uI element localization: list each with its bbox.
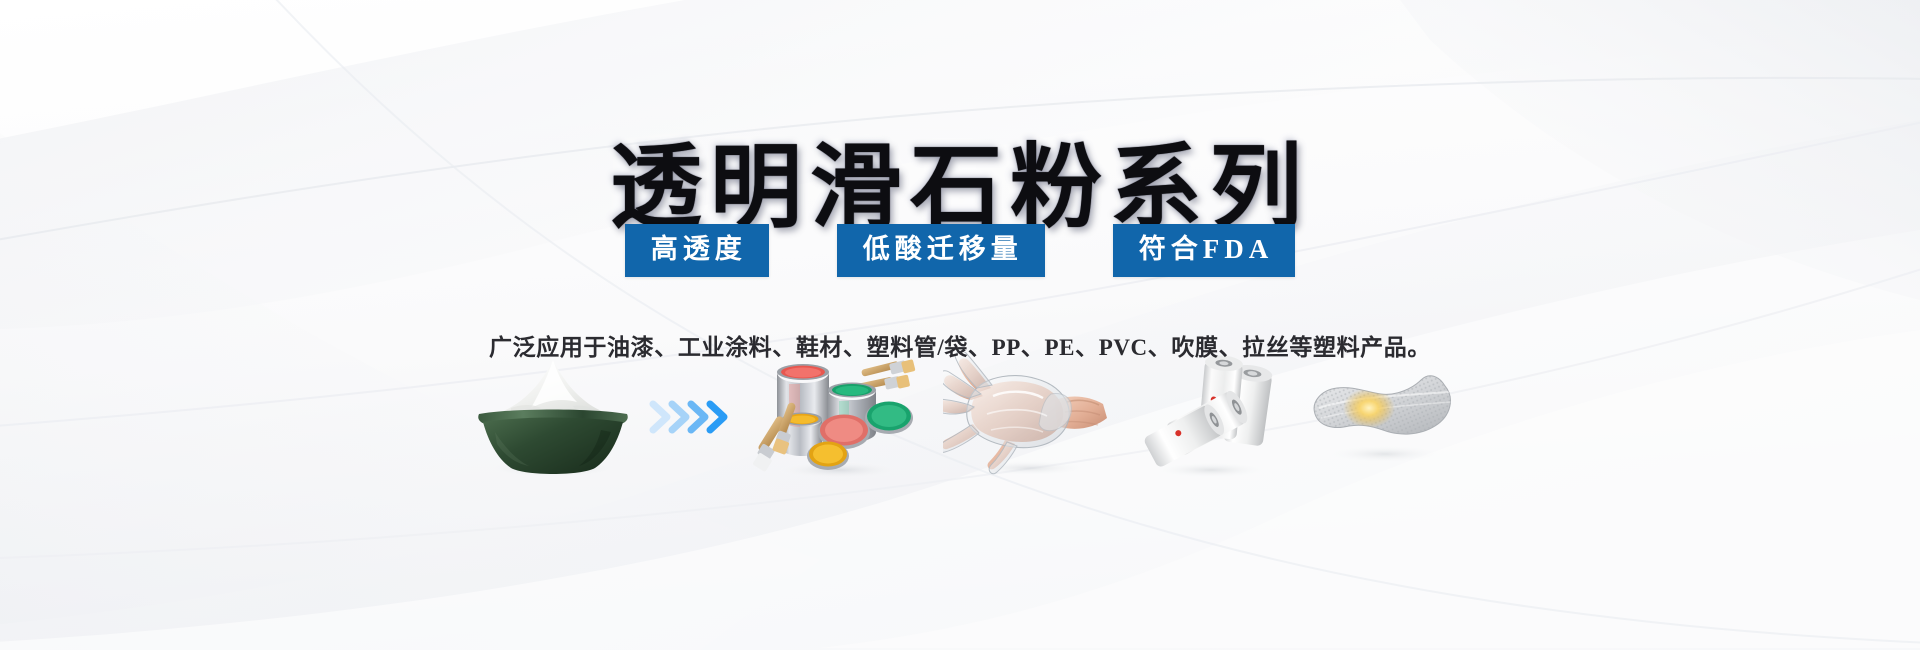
chevron-right-icon-4 <box>710 404 724 430</box>
chevron-right-icon-2 <box>672 404 686 430</box>
page-title: 透明滑石粉系列 <box>600 140 1320 237</box>
film-roll-front-left <box>1143 402 1228 469</box>
status-badge-low-acid-migration[interactable]: 低酸迁移量 <box>837 224 1045 277</box>
product-banner: 透明滑石粉系列 高透度 低酸迁移量 符合FDA 广泛应用于油漆、工业涂料、鞋材、… <box>0 0 1920 650</box>
status-badge-high-transparency[interactable]: 高透度 <box>625 224 769 277</box>
arrow-chevrons-group <box>641 395 737 439</box>
banner-subtitle-wrap: 广泛应用于油漆、工业涂料、鞋材、塑料管/袋、PP、PE、PVC、吹膜、拉丝等塑料… <box>0 305 1920 385</box>
chevron-right-icon-1 <box>653 404 667 430</box>
application-description: 广泛应用于油漆、工业涂料、鞋材、塑料管/袋、PP、PE、PVC、吹膜、拉丝等塑料… <box>489 328 1431 362</box>
status-badge-fda-compliant[interactable]: 符合FDA <box>1113 224 1296 277</box>
chevron-right-icon-3 <box>691 404 705 430</box>
feature-badge-group: 高透度 低酸迁移量 符合FDA <box>0 224 1920 277</box>
